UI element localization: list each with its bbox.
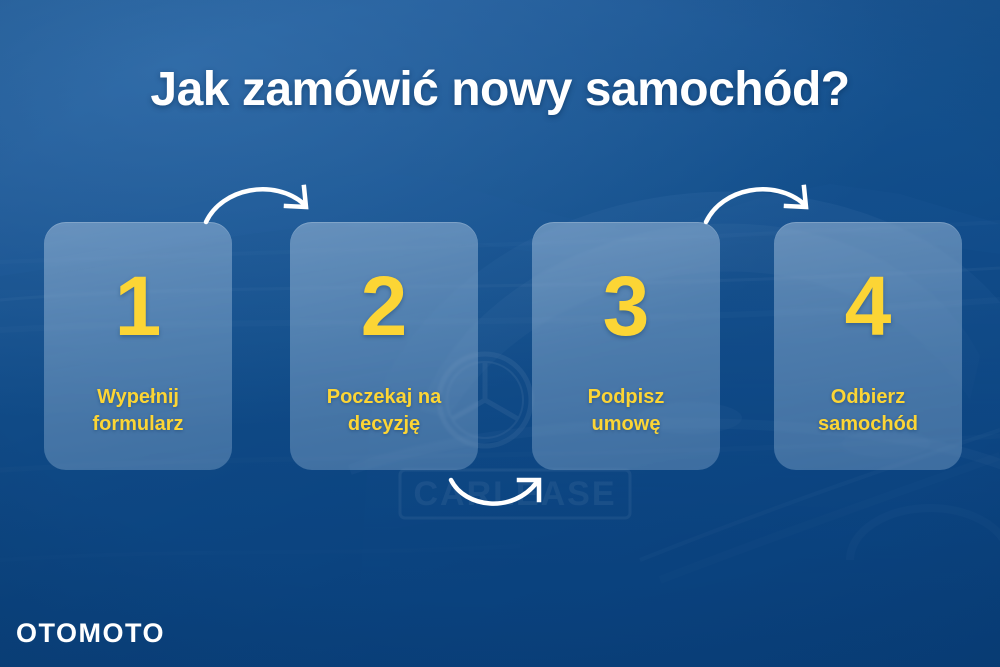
otomoto-logo[interactable]: OTOMOTO: [16, 618, 165, 649]
step-label-line2: samochód: [780, 411, 956, 438]
step-label-line1: Odbierz: [831, 386, 905, 408]
step-label-line2: umowę: [538, 411, 714, 438]
step-label: Odbierz samochód: [780, 384, 956, 438]
step-card-4: 4 Odbierz samochód: [774, 222, 962, 470]
step-card-3: 3 Podpisz umowę: [532, 222, 720, 470]
step-label-line1: Wypełnij: [97, 386, 179, 408]
infographic-canvas: CARLEASE Jak zamówić nowy samochód? 1 Wy…: [0, 0, 1000, 667]
step-card-2: 2 Poczekaj na decyzję: [290, 222, 478, 470]
step-number: 2: [290, 264, 478, 348]
step-card-1: 1 Wypełnij formularz: [44, 222, 232, 470]
step-label: Podpisz umowę: [538, 384, 714, 438]
step-label-line1: Poczekaj na: [327, 386, 442, 408]
step-number: 1: [44, 264, 232, 348]
step-label-line2: formularz: [50, 411, 226, 438]
step-label: Poczekaj na decyzję: [296, 384, 472, 438]
otomoto-logo-text: OTOMOTO: [16, 618, 165, 649]
step-label-line2: decyzję: [296, 411, 472, 438]
step-label-line1: Podpisz: [588, 386, 665, 408]
page-title: Jak zamówić nowy samochód?: [0, 62, 1000, 117]
step-number: 4: [774, 264, 962, 348]
step-label: Wypełnij formularz: [50, 384, 226, 438]
step-number: 3: [532, 264, 720, 348]
